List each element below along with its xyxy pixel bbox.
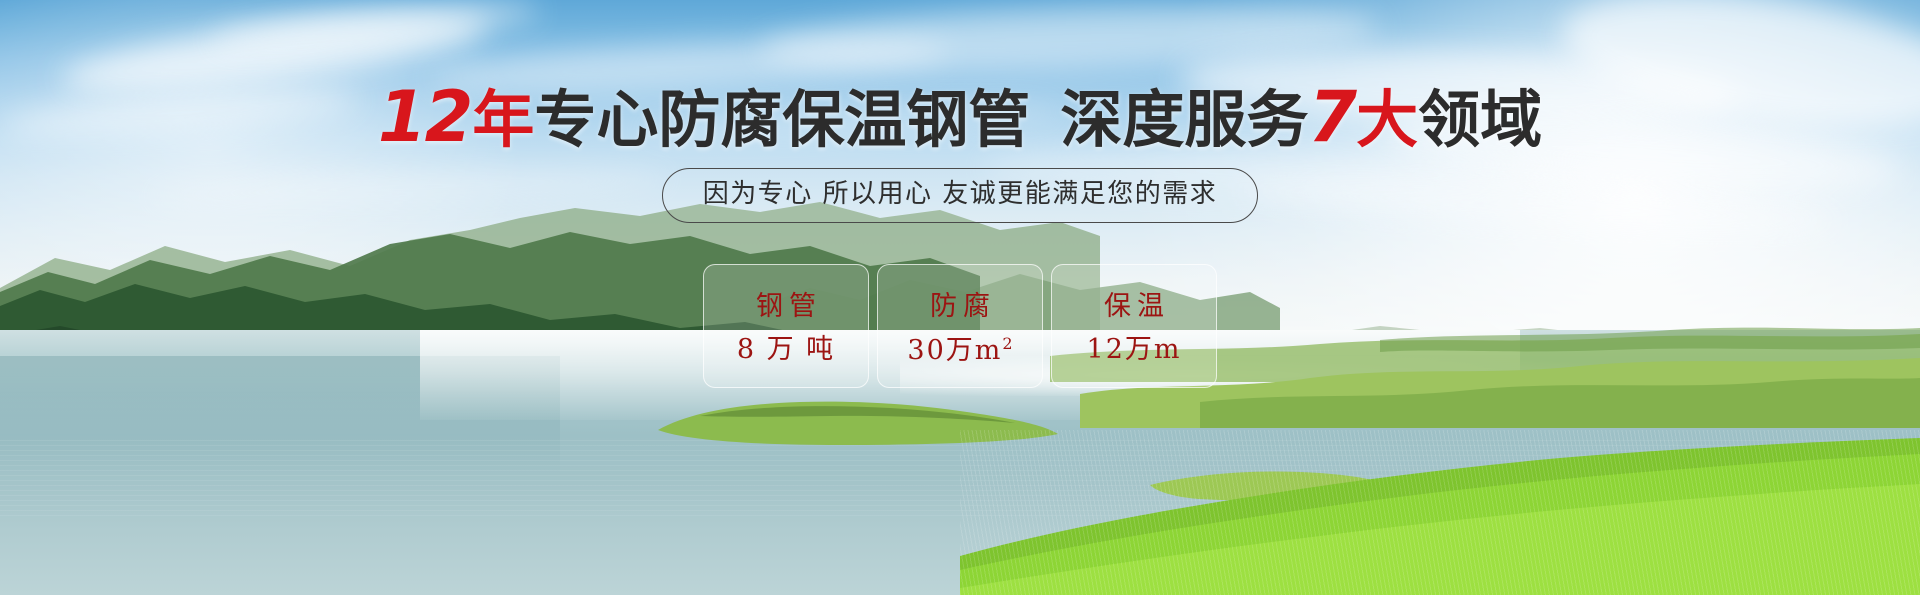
banner-subtitle-wrapper: 因为专心 所以用心 友诚更能满足您的需求 bbox=[0, 168, 1920, 223]
banner-content: 12年专心防腐保温钢管深度服务7大领域 因为专心 所以用心 友诚更能满足您的需求… bbox=[0, 0, 1920, 595]
stat-card-anticorrosion: 防腐 30万m2 bbox=[877, 264, 1043, 388]
hero-banner: 12年专心防腐保温钢管深度服务7大领域 因为专心 所以用心 友诚更能满足您的需求… bbox=[0, 0, 1920, 595]
banner-subtitle-pill: 因为专心 所以用心 友诚更能满足您的需求 bbox=[662, 168, 1259, 223]
headline-years-number: 12 bbox=[378, 76, 471, 158]
stat-card-steel-pipe: 钢管 8 万 吨 bbox=[703, 264, 869, 388]
headline-fields-number: 7 bbox=[1308, 76, 1355, 158]
stat-card-insulation: 保温 12万m bbox=[1051, 264, 1217, 388]
headline-fields-unit: 大 bbox=[1356, 83, 1418, 156]
headline-tail-text: 领域 bbox=[1418, 83, 1542, 156]
stat-card-title: 防腐 bbox=[924, 293, 996, 320]
stat-card-value: 8 万 吨 bbox=[737, 336, 835, 363]
banner-headline: 12年专心防腐保温钢管深度服务7大领域 bbox=[0, 82, 1920, 152]
stat-value-superscript: 2 bbox=[1002, 334, 1012, 353]
stat-value-text: 8 万 吨 bbox=[737, 334, 835, 365]
stat-card-title: 保温 bbox=[1098, 293, 1170, 320]
headline-second-text: 深度服务 bbox=[1060, 83, 1308, 156]
stat-card-value: 12万m bbox=[1087, 336, 1182, 363]
stat-card-title: 钢管 bbox=[750, 293, 822, 320]
stat-card-value: 30万m2 bbox=[907, 336, 1012, 364]
stat-value-text: 30万m bbox=[907, 335, 1002, 366]
headline-years-unit: 年 bbox=[472, 83, 534, 156]
headline-main-text: 专心防腐保温钢管 bbox=[534, 83, 1030, 156]
stats-card-group: 钢管 8 万 吨 防腐 30万m2 保温 12万m bbox=[0, 264, 1920, 388]
stat-value-text: 12万m bbox=[1087, 334, 1182, 365]
